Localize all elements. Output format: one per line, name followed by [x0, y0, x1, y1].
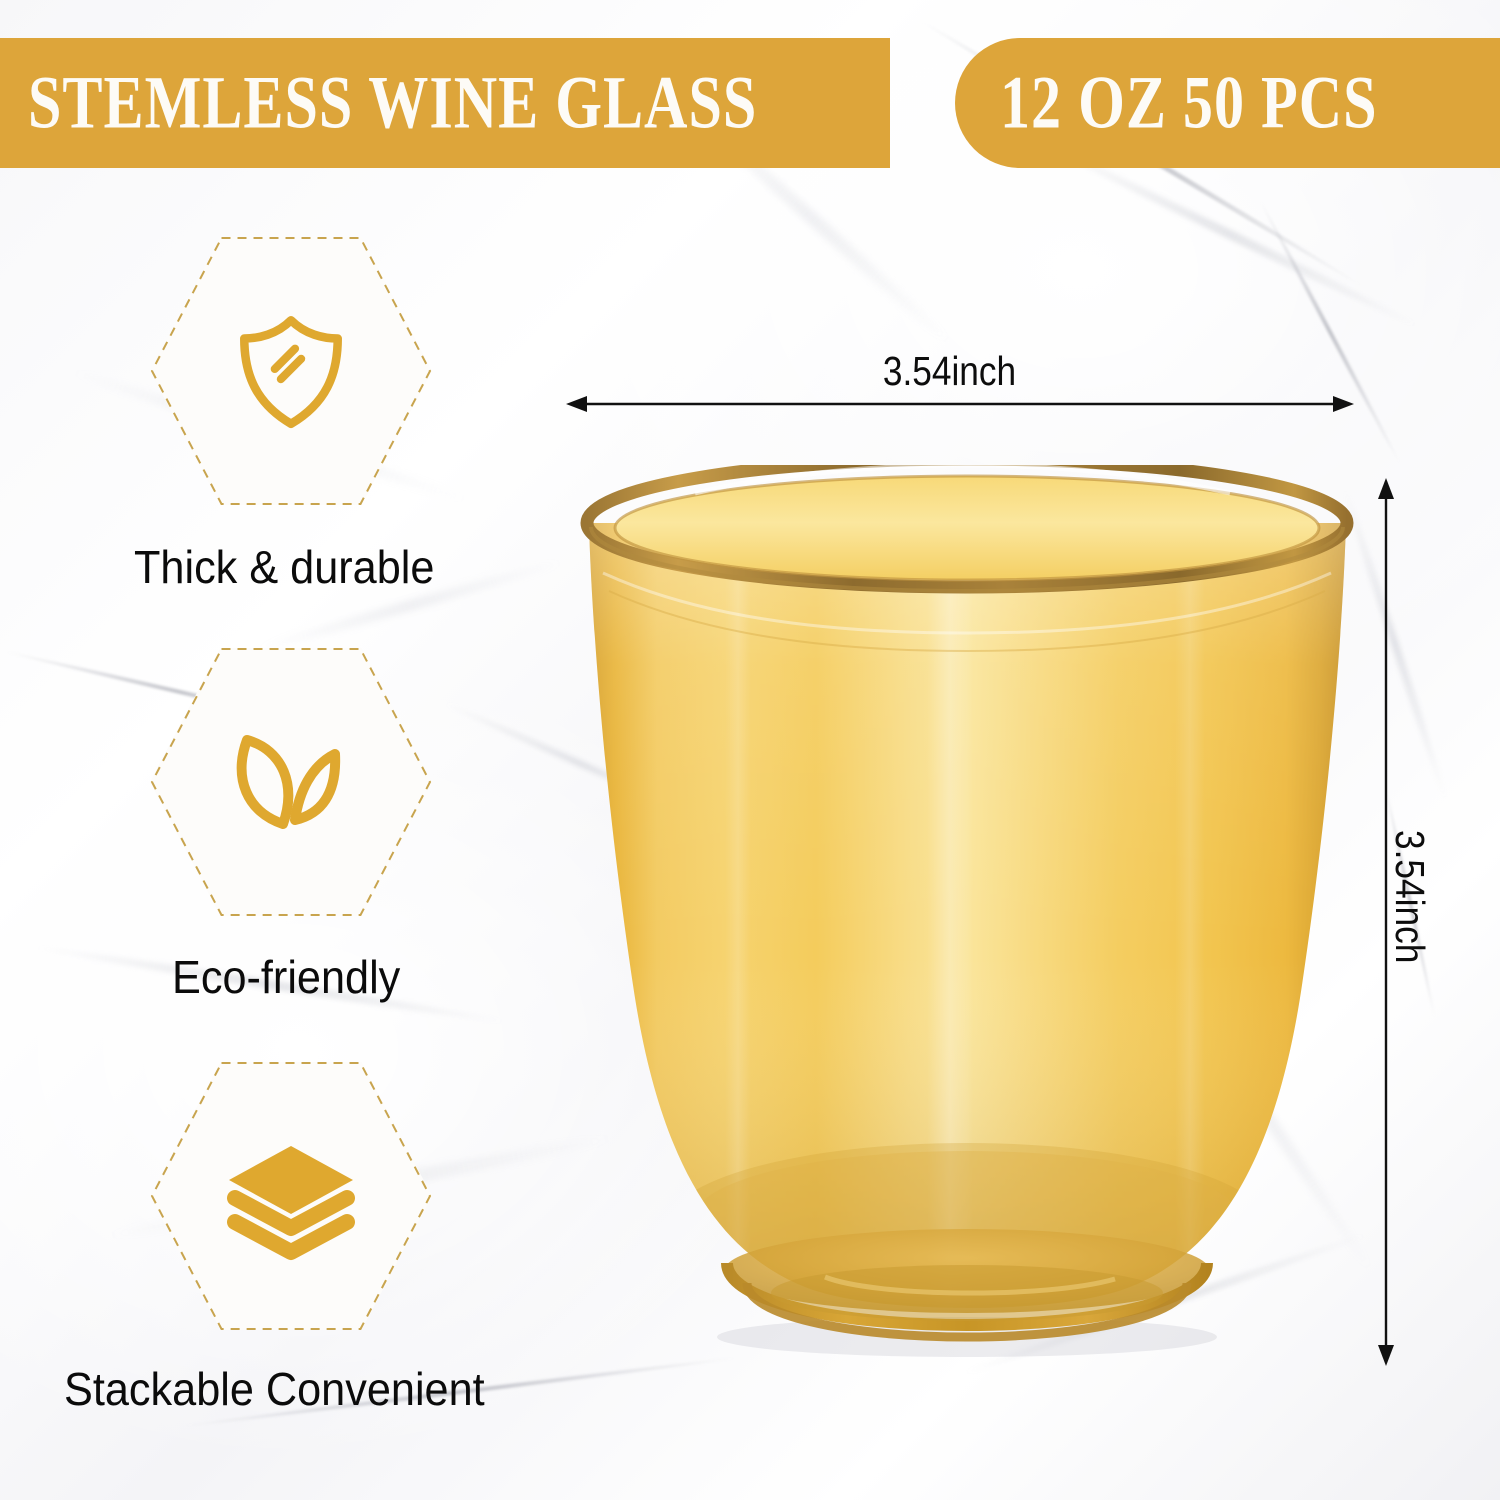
product-infographic: STEMLESS WINE GLASS 12 OZ 50 PCS Thick &…	[0, 0, 1500, 1500]
quantity-banner: 12 OZ 50 PCS	[955, 38, 1500, 168]
leaf-icon	[221, 717, 361, 847]
product-title: STEMLESS WINE GLASS	[28, 60, 757, 147]
feature-hexagon	[150, 237, 432, 505]
product-image	[575, 465, 1360, 1365]
feature-hexagon	[150, 648, 432, 916]
feature-hexagon	[150, 1062, 432, 1330]
width-dimension-arrow	[560, 388, 1360, 420]
stemless-wine-glass	[575, 465, 1360, 1365]
height-dimension-arrow	[1370, 472, 1402, 1372]
feature-label: Eco-friendly	[172, 950, 400, 1004]
quantity-label: 12 OZ 50 PCS	[1000, 60, 1378, 147]
feature-label: Stackable Convenient	[64, 1362, 485, 1416]
layers-icon	[221, 1131, 361, 1261]
title-banner: STEMLESS WINE GLASS	[0, 38, 890, 168]
feature-label: Thick & durable	[134, 540, 434, 594]
shield-icon	[226, 306, 356, 436]
